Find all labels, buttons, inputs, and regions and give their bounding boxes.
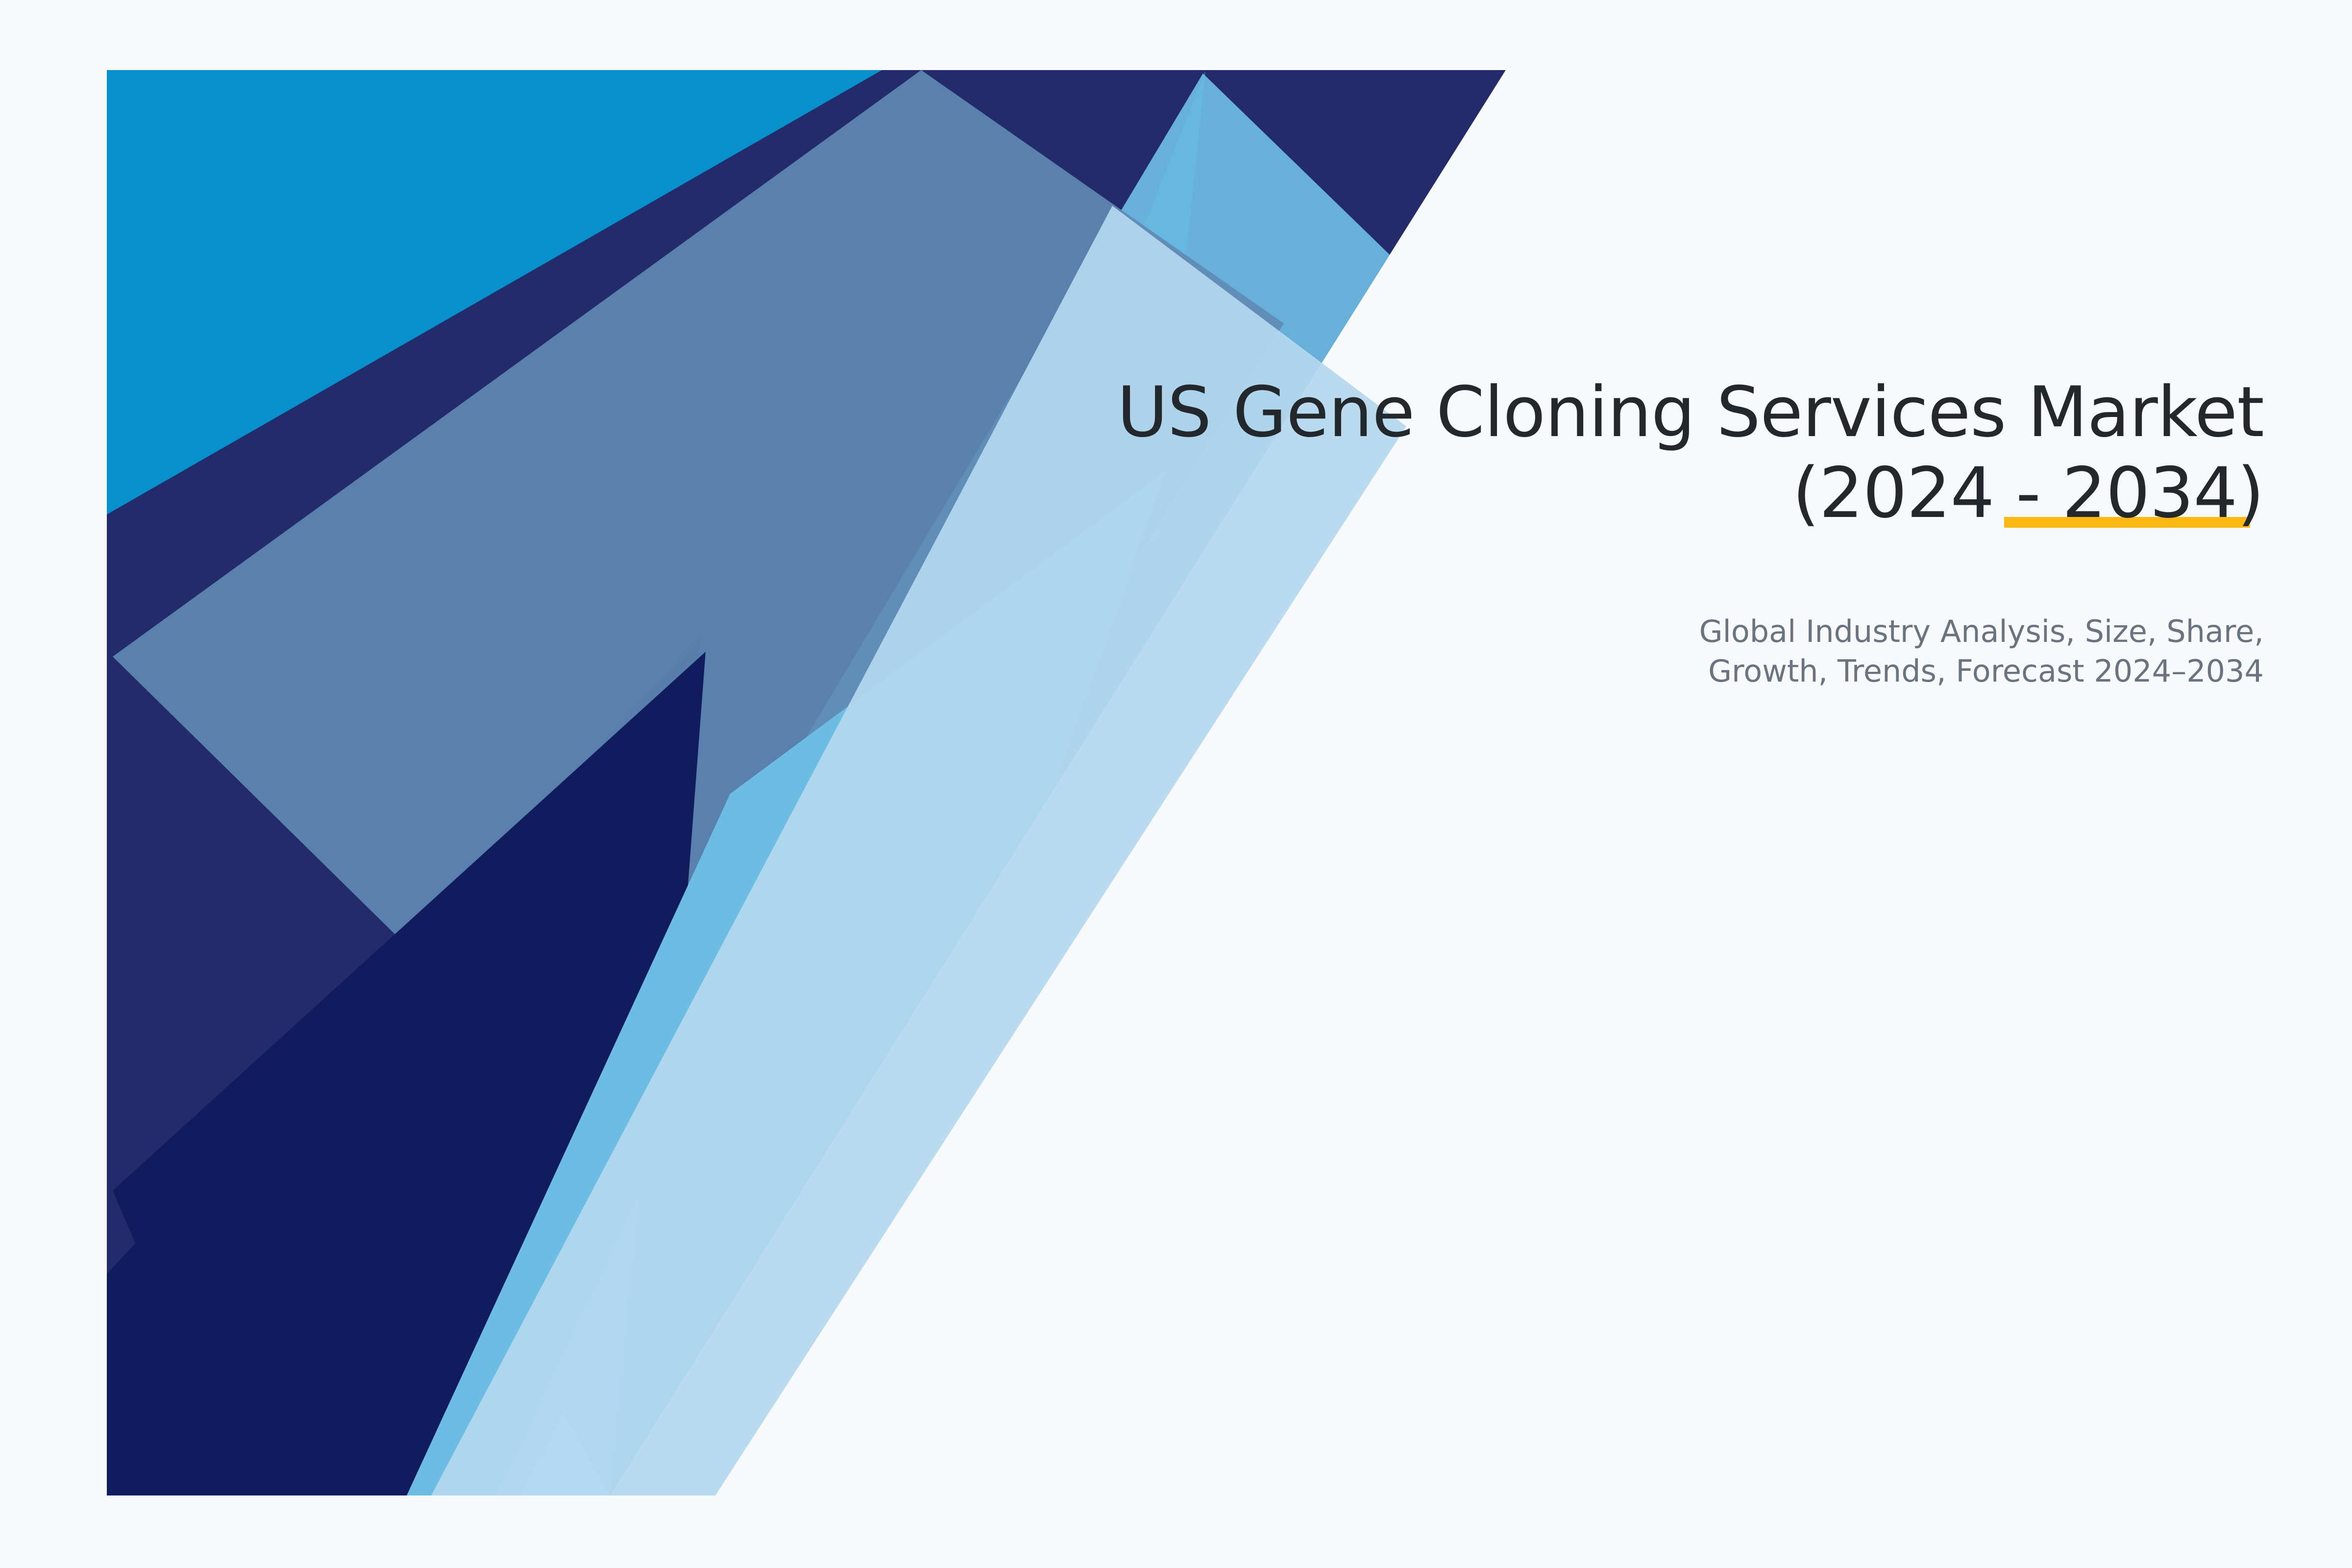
report-subtitle: Global Industry Analysis, Size, Share, G… (931, 534, 2264, 691)
report-title: US Gene Cloning Services Market (2024 - … (931, 372, 2264, 534)
abstract-geometric-artwork (0, 0, 2352, 1568)
cover-text-block: US Gene Cloning Services Market (2024 - … (931, 372, 2264, 691)
report-cover-page: US Gene Cloning Services Market (2024 - … (0, 0, 2352, 1568)
